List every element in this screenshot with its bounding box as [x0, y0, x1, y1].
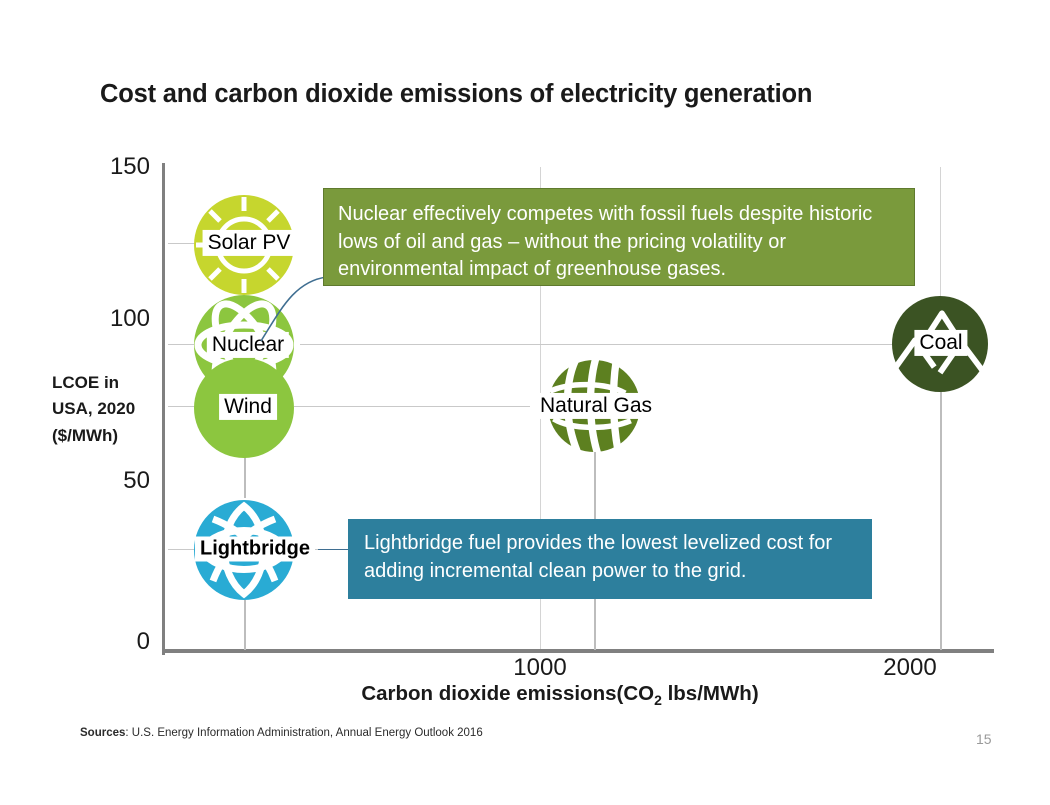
sources-text: : U.S. Energy Information Administration…: [125, 727, 482, 739]
ytick-label-50: 50: [30, 467, 150, 495]
y-axis-title-line3: ($/MWh): [52, 423, 167, 449]
x-axis-line: [162, 649, 994, 653]
ytick-label-150: 150: [30, 153, 150, 181]
xtick-label-1000: 1000: [470, 654, 610, 682]
leader-line-nuclear-right: [300, 344, 908, 345]
sources-label: Sources: [80, 727, 125, 739]
nuclear-callout: Nuclear effectively competes with fossil…: [323, 188, 915, 286]
lightbridge-callout: Lightbridge fuel provides the lowest lev…: [348, 519, 872, 599]
point-label-solar-pv: Solar PV: [203, 230, 296, 256]
sources-note: Sources: U.S. Energy Information Adminis…: [80, 727, 483, 739]
y-axis-title-line2: USA, 2020: [52, 396, 167, 422]
point-label-lightbridge: Lightbridge: [195, 537, 315, 562]
dropline-lightbridge: [244, 600, 246, 650]
ytick-label-100: 100: [30, 305, 150, 333]
y-axis-title: LCOE in USA, 2020 ($/MWh): [52, 370, 167, 449]
point-label-natural-gas: Natural Gas: [535, 393, 657, 419]
slide-root: Cost and carbon dioxide emissions of ele…: [0, 0, 1050, 805]
page-number: 15: [976, 731, 992, 747]
x-axis-title: Carbon dioxide emissions(CO2 lbs/MWh): [250, 682, 870, 708]
leader-line-wind-right: [294, 406, 530, 407]
dropline-coal: [940, 390, 942, 650]
x-axis-title-subscript: 2: [654, 692, 662, 708]
ytick-label-0: 0: [30, 628, 150, 656]
point-label-wind: Wind: [219, 394, 277, 420]
page-title: Cost and carbon dioxide emissions of ele…: [100, 80, 960, 109]
point-label-coal: Coal: [914, 330, 967, 356]
y-axis-title-line1: LCOE in: [52, 370, 167, 396]
xtick-label-2000: 2000: [840, 654, 980, 682]
x-axis-title-pre: Carbon dioxide emissions(CO: [361, 682, 654, 705]
x-axis-title-post: lbs/MWh): [662, 682, 759, 705]
nuclear-callout-connector: [255, 275, 335, 350]
